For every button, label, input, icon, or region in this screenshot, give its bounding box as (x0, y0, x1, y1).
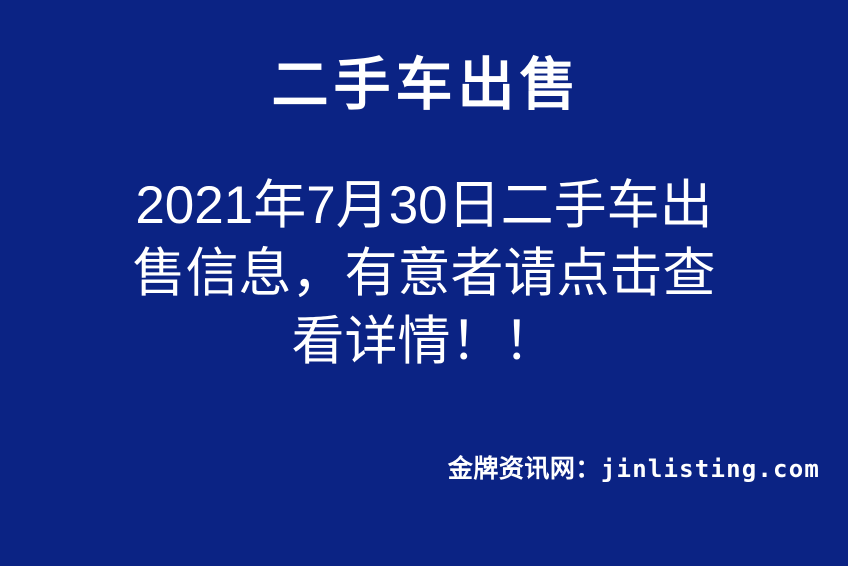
source-credit: 金牌资讯网： jinlisting.com (448, 449, 820, 485)
page-title: 二手车出售 (0, 56, 848, 116)
source-site-label: 金牌资讯网： (448, 449, 601, 485)
source-site-url: jinlisting.com (601, 455, 820, 483)
poster-canvas: 二手车出售 2021年7月30日二手车出 售信息，有意者请点击查 看详情！！ 金… (0, 0, 848, 566)
announcement-line-2: 售信息，有意者请点击查 (0, 240, 848, 308)
announcement-line-1: 2021年7月30日二手车出 (0, 172, 848, 240)
announcement-body: 2021年7月30日二手车出 售信息，有意者请点击查 看详情！！ (0, 172, 848, 376)
announcement-line-3: 看详情！！ (0, 308, 848, 376)
